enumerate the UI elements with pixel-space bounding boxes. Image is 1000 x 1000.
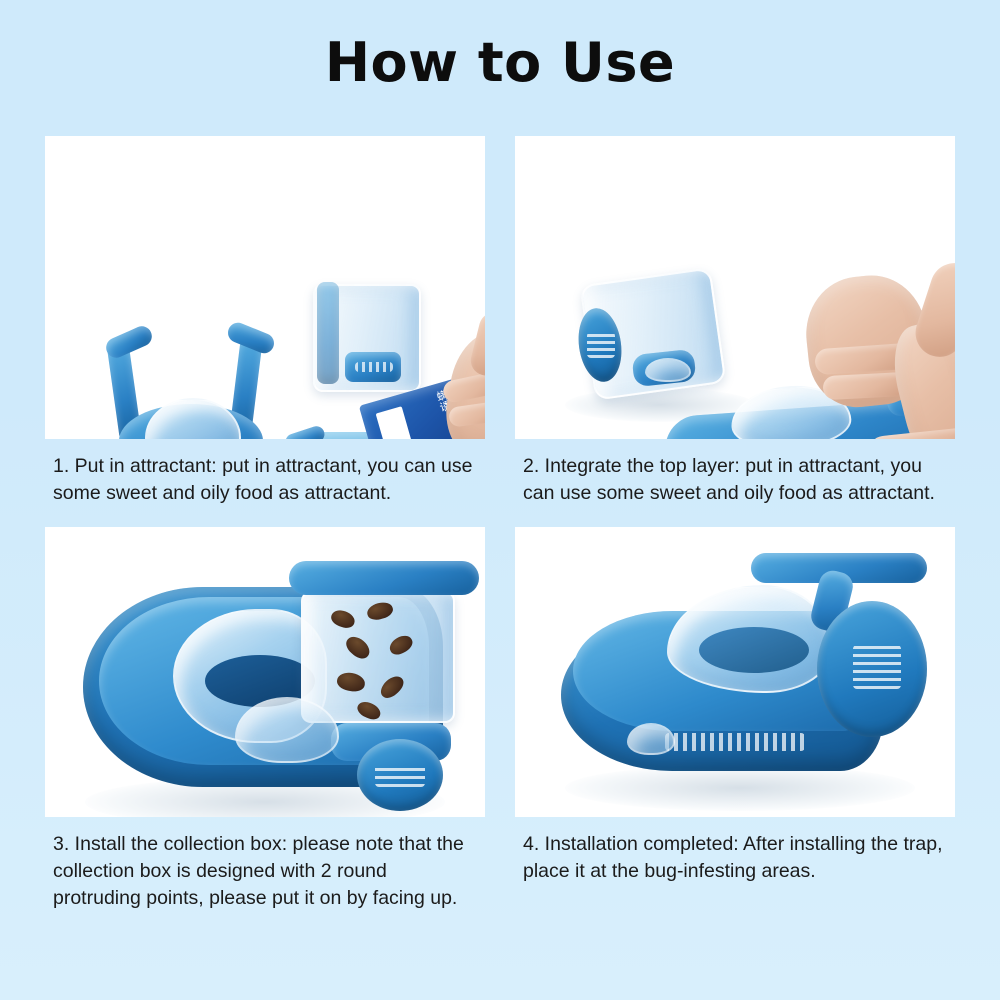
how-to-use-page: How to Use (0, 0, 1000, 1000)
step-card-1: 螨螨诱 诱虫器 1. Put in attractant: put in att… (45, 136, 485, 507)
step-card-4: 4. Installation completed: After install… (515, 527, 955, 912)
step-1-illustration: 螨螨诱 诱虫器 (45, 136, 485, 439)
step-2-image (515, 136, 955, 439)
step-2-caption: 2. Integrate the top layer: put in attra… (515, 439, 955, 507)
step-3-illustration (45, 527, 485, 817)
step-1-image: 螨螨诱 诱虫器 (45, 136, 485, 439)
step-1-caption: 1. Put in attractant: put in attractant,… (45, 439, 485, 507)
page-title: How to Use (0, 0, 1000, 90)
steps-grid: 螨螨诱 诱虫器 1. Put in attractant: put in att… (45, 136, 955, 920)
step-2-illustration (515, 136, 955, 439)
step-3-image (45, 527, 485, 817)
step-4-image (515, 527, 955, 817)
step-card-3: 3. Install the collection box: please no… (45, 527, 485, 912)
step-3-caption: 3. Install the collection box: please no… (45, 817, 485, 912)
step-card-2: 2. Integrate the top layer: put in attra… (515, 136, 955, 507)
step-4-caption: 4. Installation completed: After install… (515, 817, 955, 885)
step-4-illustration (515, 527, 955, 817)
